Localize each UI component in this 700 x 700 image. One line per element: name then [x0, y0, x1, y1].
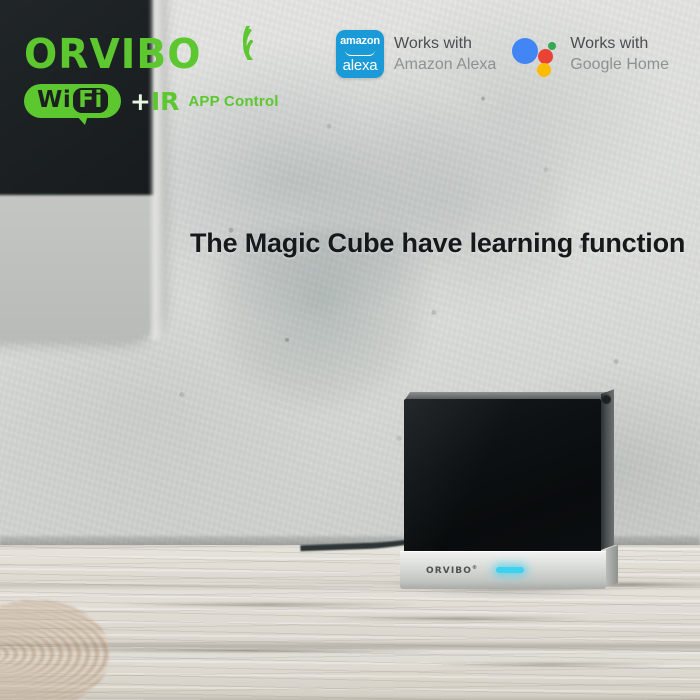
cube-base-side-face	[606, 545, 618, 587]
works-with-alexa: amazon alexa Works with Amazon Alexa	[336, 30, 496, 78]
amazon-smile-arc-icon	[345, 50, 375, 56]
google-dot-green	[548, 42, 556, 50]
wood-streak	[430, 663, 670, 666]
compatibility-badges: amazon alexa Works with Amazon Alexa Wor…	[336, 30, 669, 78]
wood-streak	[120, 603, 420, 606]
cube-front-face	[404, 399, 601, 551]
connectivity-badges: WiFi +IR APP Control	[24, 84, 279, 118]
app-control-label: APP Control	[188, 94, 278, 109]
product-logo: ORVIBO®	[426, 565, 478, 576]
wall-stain-secondary	[300, 110, 560, 310]
wifi-label-wi: Wi	[37, 87, 71, 113]
alexa-wordmark: alexa	[343, 58, 378, 73]
wood-streak	[60, 649, 440, 652]
works-with-google-home: Works with Google Home	[512, 32, 669, 76]
cube-glass-sheen	[404, 399, 601, 551]
alexa-caption: Works with Amazon Alexa	[394, 33, 496, 75]
amazon-wordmark: amazon	[340, 36, 380, 47]
google-dot-red	[538, 49, 553, 64]
wifi-label-fi: Fi	[73, 88, 108, 113]
ir-badge: +IR	[130, 89, 180, 114]
google-dot-blue	[512, 38, 538, 64]
google-caption-line2: Google Home	[570, 54, 669, 75]
alexa-caption-line2: Amazon Alexa	[394, 54, 496, 75]
amazon-alexa-logo-icon: amazon alexa	[336, 30, 384, 78]
cube-side-face	[601, 389, 614, 550]
led-status-indicator	[496, 567, 524, 573]
alexa-caption-line1: Works with	[394, 33, 496, 54]
google-caption-line1: Works with	[570, 33, 669, 54]
google-caption: Works with Google Home	[570, 33, 669, 75]
headline-text: The Magic Cube have learning function	[190, 228, 685, 259]
wifi-signal-arcs-icon	[236, 26, 276, 60]
cube-corner-detail	[602, 395, 611, 404]
product-marketing-image: ORVIBO WiFi +IR APP Control amazon alexa	[0, 0, 700, 700]
magic-cube-product: ORVIBO®	[404, 399, 611, 590]
trademark-symbol: ®	[472, 565, 478, 571]
google-dot-yellow	[537, 63, 551, 77]
wifi-badge: WiFi	[24, 84, 121, 118]
ir-label: IR	[151, 87, 180, 116]
speech-bubble-tail	[76, 115, 88, 125]
ir-plus-sign: +	[130, 87, 151, 116]
wood-streak	[330, 617, 590, 620]
google-assistant-logo-icon	[512, 32, 560, 76]
